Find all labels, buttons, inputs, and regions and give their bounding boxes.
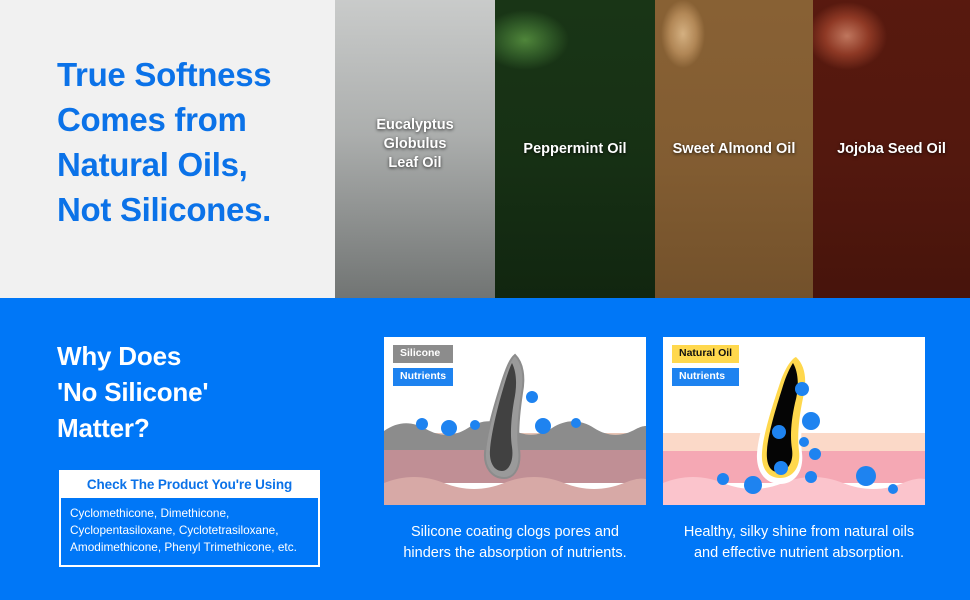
peppermint-photo-label: Peppermint Oil — [495, 140, 655, 159]
legend-badge-nutrients: Nutrients — [393, 368, 453, 386]
label-line: Eucalyptus — [335, 116, 495, 135]
headline-line-1: True Softness — [57, 52, 337, 97]
label-line: Leaf Oil — [335, 154, 495, 173]
subhead-line-1: Why Does — [57, 338, 357, 374]
eucalyptus-photo: Eucalyptus Globulus Leaf Oil — [335, 0, 495, 298]
nutrient-dot — [717, 473, 729, 485]
caption-line: Silicone coating clogs pores and — [374, 522, 656, 543]
nutrient-dot — [795, 382, 809, 396]
nutrient-dot — [856, 466, 876, 486]
sweet-almond-photo: Sweet Almond Oil — [655, 0, 813, 298]
eucalyptus-photo-label: Eucalyptus Globulus Leaf Oil — [335, 116, 495, 173]
hero-band: True Softness Comes from Natural Oils, N… — [0, 0, 970, 298]
nutrient-dot — [799, 437, 809, 447]
silicone-ingredient-list: Cyclomethicone, Dimethicone, Cyclopentas… — [61, 498, 318, 565]
check-product-title: Check The Product You're Using — [61, 472, 318, 498]
caption-line: Healthy, silky shine from natural oils — [653, 522, 945, 543]
nutrient-dot — [744, 476, 762, 494]
peppermint-photo: Peppermint Oil — [495, 0, 655, 298]
nutrient-dot — [802, 412, 820, 430]
label-line: Peppermint Oil — [495, 140, 655, 159]
infographic-page: True Softness Comes from Natural Oils, N… — [0, 0, 970, 600]
silicone-diagram-legend: Silicone Nutrients — [393, 345, 453, 386]
legend-badge-silicone: Silicone — [393, 345, 453, 363]
headline-line-3: Natural Oils, — [57, 142, 337, 187]
nutrient-dot — [416, 418, 428, 430]
check-product-card: Check The Product You're Using Cyclometh… — [59, 470, 320, 567]
natural-oil-diagram-legend: Natural Oil Nutrients — [672, 345, 739, 386]
headline-line-4: Not Silicones. — [57, 187, 337, 232]
nutrient-dot — [535, 418, 551, 434]
nutrient-dot — [805, 471, 817, 483]
legend-badge-nutrients: Nutrients — [672, 368, 739, 386]
ingredient-photo-strip: Eucalyptus Globulus Leaf Oil Peppermint … — [335, 0, 970, 298]
natural-oil-diagram-caption: Healthy, silky shine from natural oils a… — [653, 522, 945, 564]
subhead-line-2: 'No Silicone' — [57, 374, 357, 410]
silicone-diagram-caption: Silicone coating clogs pores and hinders… — [374, 522, 656, 564]
nutrient-dot — [774, 461, 788, 475]
label-line: Globulus — [335, 135, 495, 154]
section-title: Why Does 'No Silicone' Matter? — [57, 338, 357, 446]
nutrient-dot — [526, 391, 538, 403]
legend-badge-natural-oil: Natural Oil — [672, 345, 739, 363]
headline-line-2: Comes from — [57, 97, 337, 142]
sweet-almond-photo-label: Sweet Almond Oil — [655, 140, 813, 159]
nutrient-dot — [772, 425, 786, 439]
nutrient-dot — [809, 448, 821, 460]
page-title: True Softness Comes from Natural Oils, N… — [57, 52, 337, 232]
nutrient-dot — [888, 484, 898, 494]
silicone-diagram: Silicone Nutrients — [384, 337, 646, 505]
jojoba-photo-label: Jojoba Seed Oil — [813, 140, 970, 159]
subhead-line-3: Matter? — [57, 410, 357, 446]
nutrient-dot — [441, 420, 457, 436]
jojoba-photo: Jojoba Seed Oil — [813, 0, 970, 298]
natural-oil-diagram: Natural Oil Nutrients — [663, 337, 925, 505]
label-line: Sweet Almond Oil — [655, 140, 813, 159]
nutrient-cot — [470, 420, 480, 430]
nutrient-dot — [571, 418, 581, 428]
caption-line: hinders the absorption of nutrients. — [374, 543, 656, 564]
caption-line: and effective nutrient absorption. — [653, 543, 945, 564]
label-line: Jojoba Seed Oil — [813, 140, 970, 159]
